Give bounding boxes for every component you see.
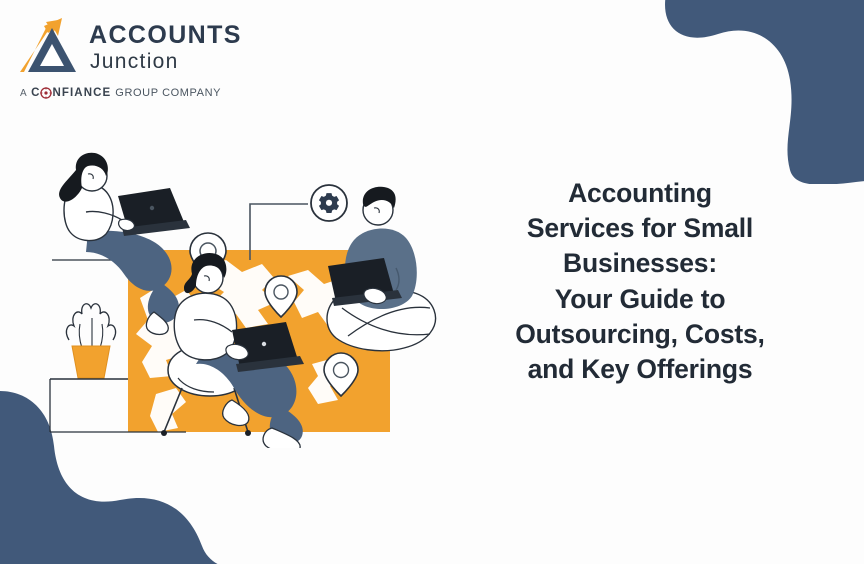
headline-line-4: Your Guide to [555, 284, 726, 314]
logo-tagline: A C NFIANCE GROUP COMPANY [20, 87, 221, 99]
headline-line-5: Outsourcing, Costs, [515, 319, 764, 349]
tagline-suffix: GROUP COMPANY [115, 87, 221, 99]
accounts-junction-logo-icon [18, 16, 80, 76]
logo-name-secondary: Junction [90, 51, 242, 72]
tagline-brand-confiance: C NFIANCE [31, 87, 111, 99]
headline-line-2: Services for Small [527, 213, 753, 243]
hero-illustration [36, 148, 466, 448]
confiance-target-o-icon [40, 87, 52, 99]
headline-line-3: Businesses: [563, 248, 717, 278]
gear-icon [311, 185, 347, 221]
brand-logo[interactable]: ACCOUNTS Junction A C NFIANCE GROUP COMP… [18, 16, 242, 99]
page-title: Accounting Services for Small Businesses… [470, 176, 810, 387]
marketing-banner: ACCOUNTS Junction A C NFIANCE GROUP COMP… [0, 0, 864, 564]
headline-line-6: and Key Offerings [528, 354, 753, 384]
logo-name-primary: ACCOUNTS [89, 23, 242, 48]
decorative-blob-top-right [594, 0, 864, 184]
confiance-c-letter: C [31, 87, 40, 99]
confiance-rest-letters: NFIANCE [52, 87, 111, 99]
tagline-prefix: A [20, 88, 27, 99]
headline-line-1: Accounting [568, 178, 712, 208]
person-woman-top-left [52, 153, 190, 335]
logo-wordmark: ACCOUNTS Junction [89, 21, 242, 72]
logo-row: ACCOUNTS Junction [18, 16, 242, 76]
